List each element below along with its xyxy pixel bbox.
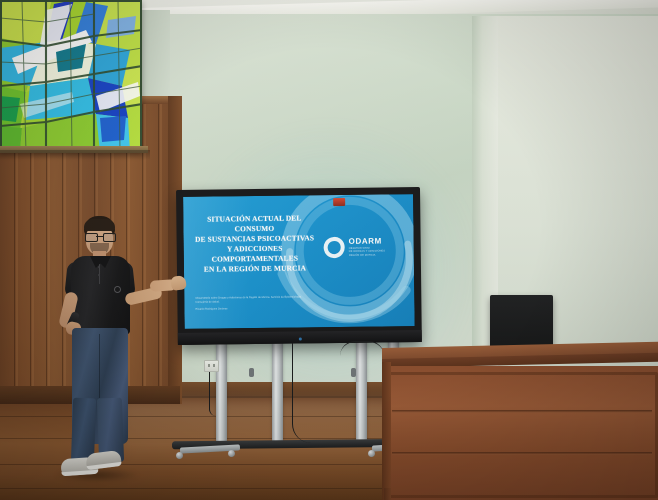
polo-chest-logo bbox=[114, 286, 121, 293]
presentation-slide: SITUACIÓN ACTUAL DEL CONSUMO DE SUSTANCI… bbox=[183, 194, 415, 329]
display-panel: SITUACIÓN ACTUAL DEL CONSUMO DE SUSTANCI… bbox=[183, 194, 415, 329]
jeans-seam bbox=[99, 334, 100, 398]
slide-title: SITUACIÓN ACTUAL DEL CONSUMO DE SUSTANCI… bbox=[193, 213, 316, 274]
wall-display[interactable]: SITUACIÓN ACTUAL DEL CONSUMO DE SUSTANCI… bbox=[176, 187, 422, 345]
odarm-logo-name: ODARM bbox=[349, 238, 385, 246]
lectern-leg bbox=[384, 488, 391, 500]
glasses-icon bbox=[85, 233, 114, 240]
wall-socket-cable bbox=[209, 370, 216, 416]
slide-top-logo-mark bbox=[333, 198, 345, 206]
presenter-right-hand bbox=[170, 275, 187, 291]
power-led-icon bbox=[299, 337, 302, 340]
slide-footer-line: Consejería de Salud. bbox=[195, 299, 315, 304]
lectern-panel-frame bbox=[388, 372, 658, 498]
display-cable bbox=[340, 341, 384, 356]
tv-stand-caster bbox=[228, 450, 235, 457]
presenter-polo-shirt bbox=[71, 256, 130, 334]
presenter bbox=[38, 216, 188, 500]
wooden-lectern[interactable] bbox=[382, 348, 658, 500]
slide-title-line: EN LA REGIÓN DE MURCIA bbox=[194, 263, 316, 274]
presentation-room-photo: SITUACIÓN ACTUAL DEL CONSUMO DE SUSTANCI… bbox=[0, 0, 658, 500]
tv-stand-bracket bbox=[249, 368, 254, 377]
lectern-groove bbox=[392, 410, 652, 413]
odarm-logo-subtitle: OBSERVATORIO DE DROGAS Y ADICCIONES REGI… bbox=[349, 247, 385, 257]
slide-title-line: SITUACIÓN ACTUAL DEL CONSUMO bbox=[193, 213, 315, 234]
odarm-ring-icon bbox=[322, 235, 347, 260]
wall-power-socket[interactable] bbox=[204, 360, 219, 372]
slide-title-line: Y ADICCIONES COMPORTAMENTALES bbox=[194, 243, 316, 264]
stained-glass-window bbox=[0, 0, 142, 152]
lectern-left-side bbox=[382, 362, 391, 500]
tv-stand-bracket bbox=[351, 368, 356, 377]
slide-footer: Observatorio sobre Drogas y Adicciones d… bbox=[195, 295, 315, 311]
presenter-fringe bbox=[84, 219, 115, 231]
odarm-logo: ODARM OBSERVATORIO DE DROGAS Y ADICCIONE… bbox=[324, 236, 386, 258]
lectern-groove bbox=[392, 452, 652, 455]
odarm-subtitle-line: REGIÓN DE MURCIA bbox=[349, 253, 385, 257]
tv-stand-leg-left bbox=[216, 338, 227, 442]
window-sill-shadow bbox=[0, 150, 150, 160]
tv-stand-caster bbox=[368, 450, 375, 457]
tv-stand-leg-left-2 bbox=[272, 338, 283, 442]
display-cable bbox=[292, 343, 311, 443]
